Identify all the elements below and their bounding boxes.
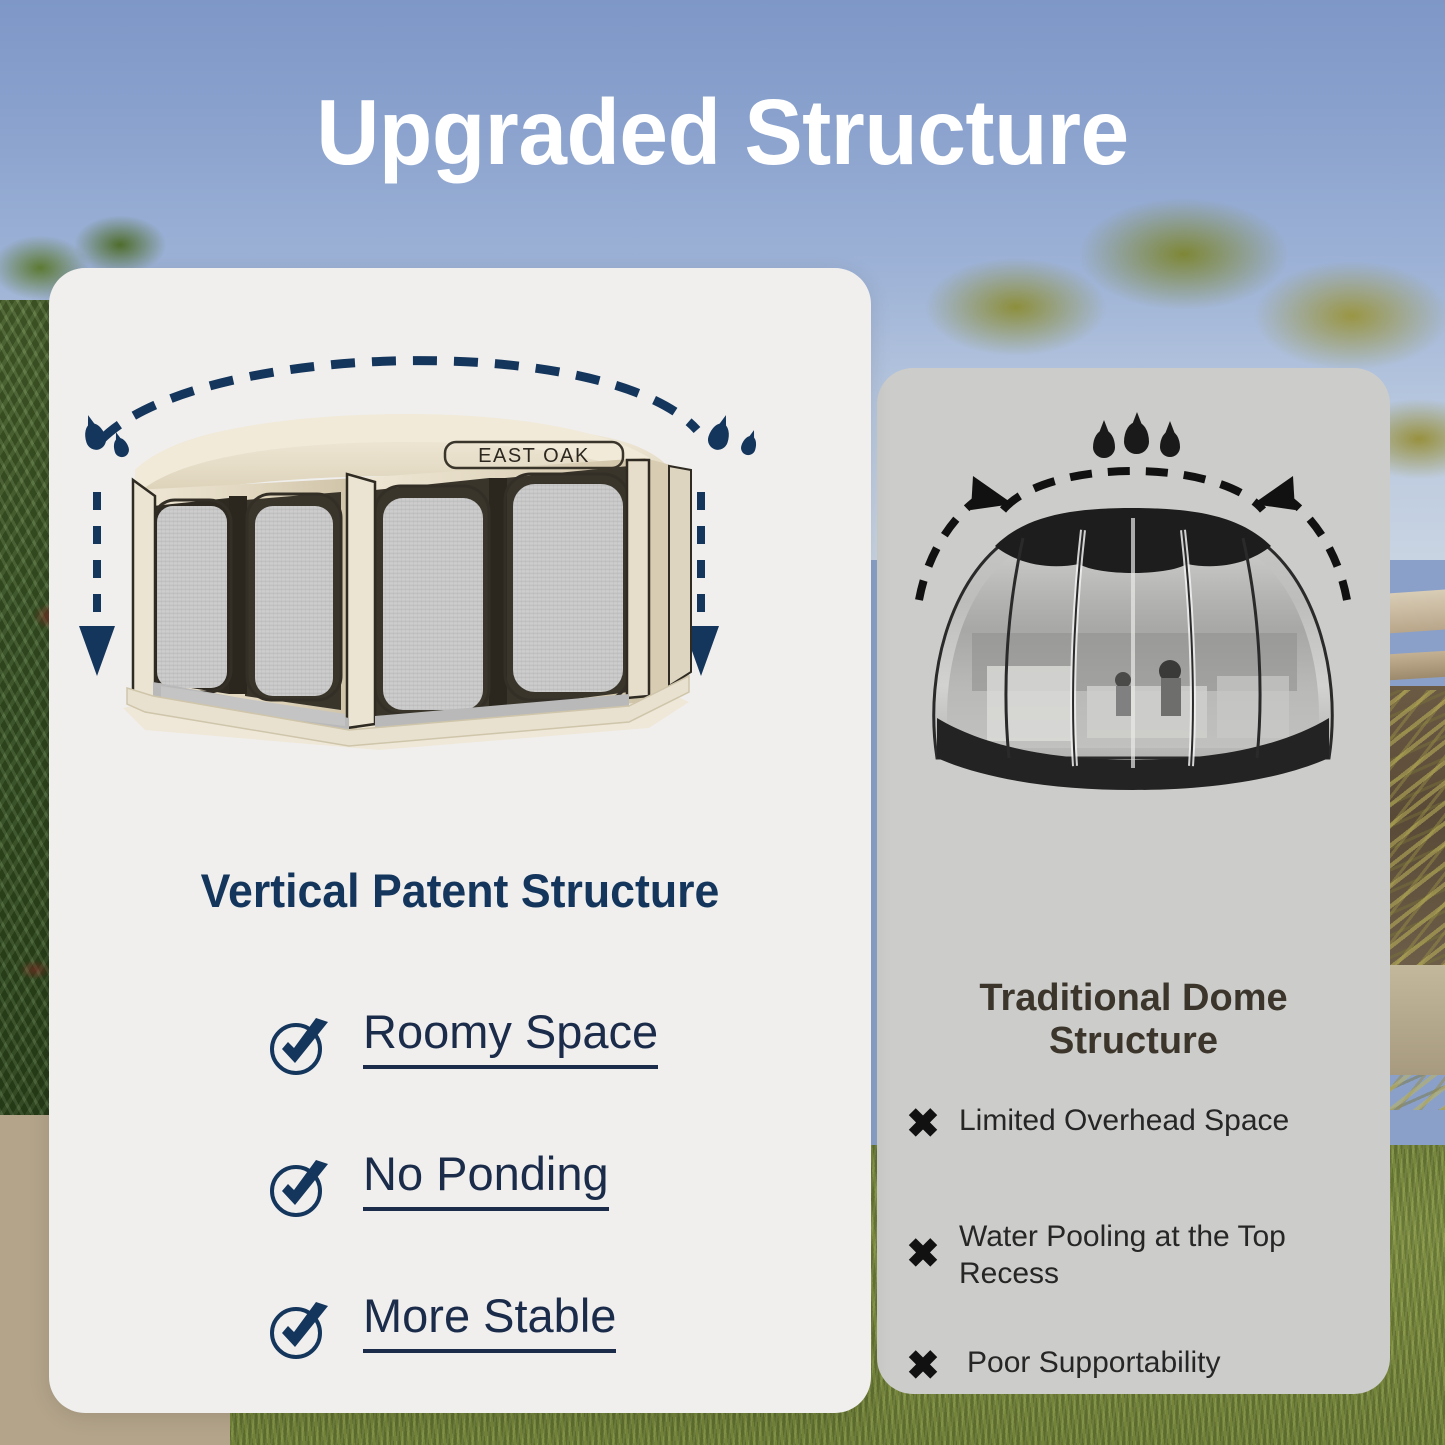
drawback-list: ✖ Limited Overhead Space ✖ Water Pooling… <box>877 1103 1390 1445</box>
water-runoff-arrow-left <box>79 492 115 676</box>
tent-illustration-svg: EAST OAK <box>49 310 871 810</box>
cross-mark-icon: ✖ <box>904 1235 942 1273</box>
feature-label: More Stable <box>363 1290 616 1353</box>
page-title: Upgraded Structure <box>43 86 1401 179</box>
drawback-label: Water Pooling at the Top Recess <box>959 1219 1351 1292</box>
cross-mark-icon: ✖ <box>904 1105 942 1143</box>
list-item: No Ponding <box>49 1150 871 1292</box>
check-circle-icon <box>268 1016 334 1078</box>
left-card-heading: Vertical Patent Structure <box>70 866 851 917</box>
check-circle-icon <box>268 1158 334 1220</box>
water-droplet-icon <box>1093 430 1115 458</box>
water-droplet-icon <box>1160 431 1180 457</box>
list-item: ✖ Poor Supportability <box>877 1335 1390 1445</box>
list-item: More Stable <box>49 1292 871 1434</box>
drawback-label: Poor Supportability <box>967 1345 1359 1382</box>
tent-illustration: EAST OAK <box>49 310 871 810</box>
drawback-label: Limited Overhead Space <box>959 1103 1351 1140</box>
list-item: Roomy Space <box>49 1008 871 1150</box>
right-card-heading-line2: Structure <box>1049 1020 1218 1062</box>
check-circle-icon <box>268 1300 334 1362</box>
dome-illustration-svg <box>877 418 1390 838</box>
water-droplet-icon <box>1124 422 1149 454</box>
list-item: ✖ Water Pooling at the Top Recess <box>877 1219 1390 1335</box>
brand-label: EAST OAK <box>478 445 590 467</box>
list-item: ✖ Limited Overhead Space <box>877 1103 1390 1219</box>
dashed-arc-over-dome <box>1003 471 1263 510</box>
right-card-heading-line1: Traditional Dome <box>979 977 1287 1019</box>
vertical-patent-structure-card: EAST OAK Vertical Patent Structure Roomy… <box>49 268 871 1413</box>
feature-label: Roomy Space <box>363 1006 658 1069</box>
right-card-heading: Traditional Dome Structure <box>877 977 1390 1062</box>
infographic-stage: Upgraded Structure <box>0 0 1445 1445</box>
feature-list: Roomy Space No Ponding <box>49 1008 871 1434</box>
feature-label: No Ponding <box>363 1148 609 1211</box>
dome-illustration <box>877 418 1390 838</box>
cross-mark-icon: ✖ <box>904 1347 942 1385</box>
traditional-dome-structure-card: Traditional Dome Structure ✖ Limited Ove… <box>877 368 1390 1394</box>
